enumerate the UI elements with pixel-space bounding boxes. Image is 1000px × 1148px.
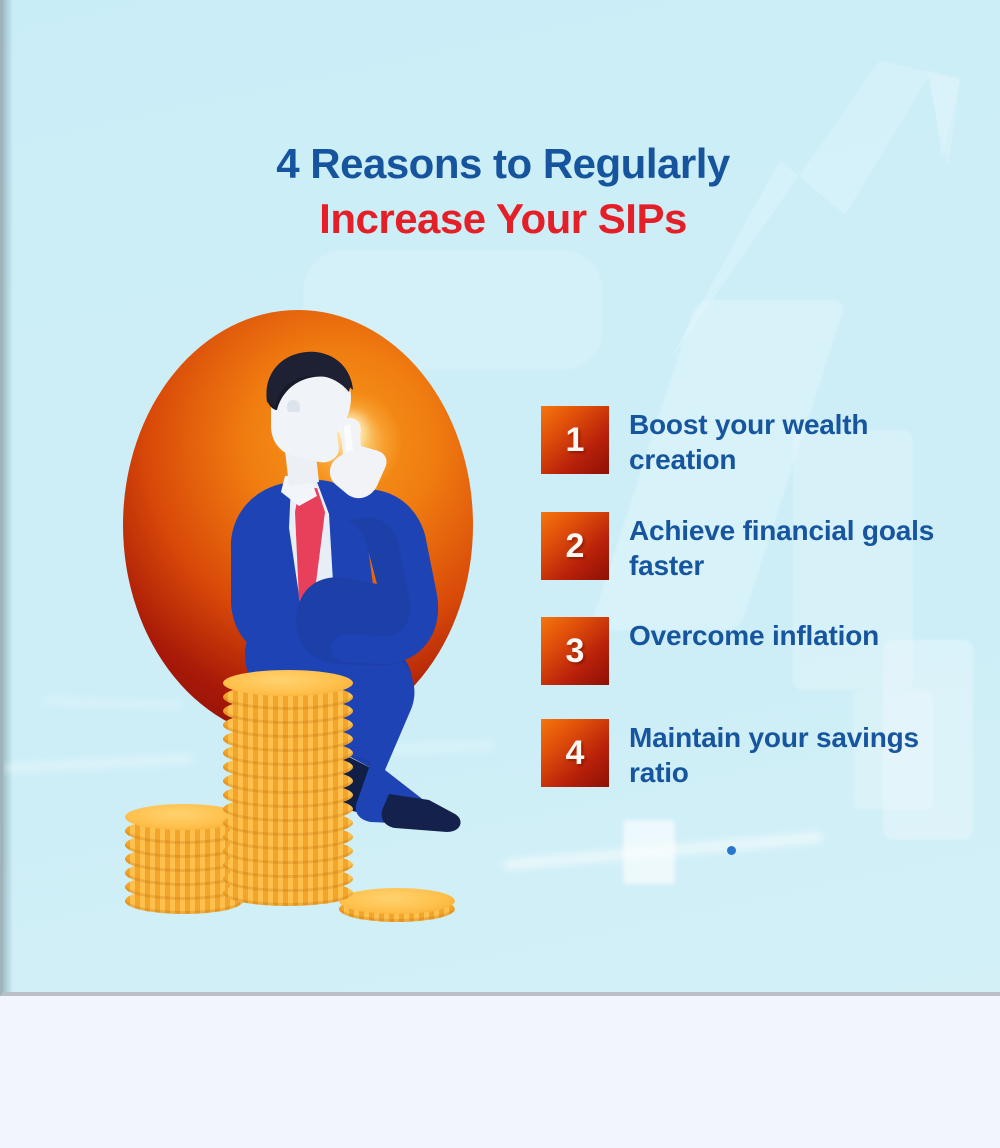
reason-label: Boost your wealth creation [629,406,959,478]
reason-number: 1 [566,423,585,457]
list-item: 4 Maintain your savings ratio [541,719,971,791]
coin-stacks-icon [103,660,503,930]
reason-label: Achieve financial goals faster [629,512,959,584]
headline-line-1: 4 Reasons to Regularly [3,140,1000,187]
illustration [103,300,503,930]
sip-infographic-poster: 4 Reasons to Regularly Increase Your SIP… [0,0,1000,1148]
reason-number-badge: 1 [541,406,609,474]
reason-number: 2 [566,529,585,563]
artwork-canvas: 4 Reasons to Regularly Increase Your SIP… [0,0,1000,996]
reason-number-badge: 4 [541,719,609,787]
reason-number-badge: 2 [541,512,609,580]
reason-label: Overcome inflation [629,617,879,653]
reasons-list: 1 Boost your wealth creation 2 Achieve f… [541,406,971,825]
reason-number-badge: 3 [541,617,609,685]
background-accent-dot [727,846,736,855]
list-item: 2 Achieve financial goals faster [541,512,971,584]
list-item: 1 Boost your wealth creation [541,406,971,478]
headline-line-2: Increase Your SIPs [3,195,1000,242]
reason-label: Maintain your savings ratio [629,719,959,791]
footer: AR AR GENIE SERVICES AR GENIE SERVICES A… [0,1000,1000,1148]
list-item: 3 Overcome inflation [541,617,971,685]
reason-number: 4 [566,736,585,770]
page-title: 4 Reasons to Regularly Increase Your SIP… [3,140,1000,242]
reason-number: 3 [566,634,585,668]
